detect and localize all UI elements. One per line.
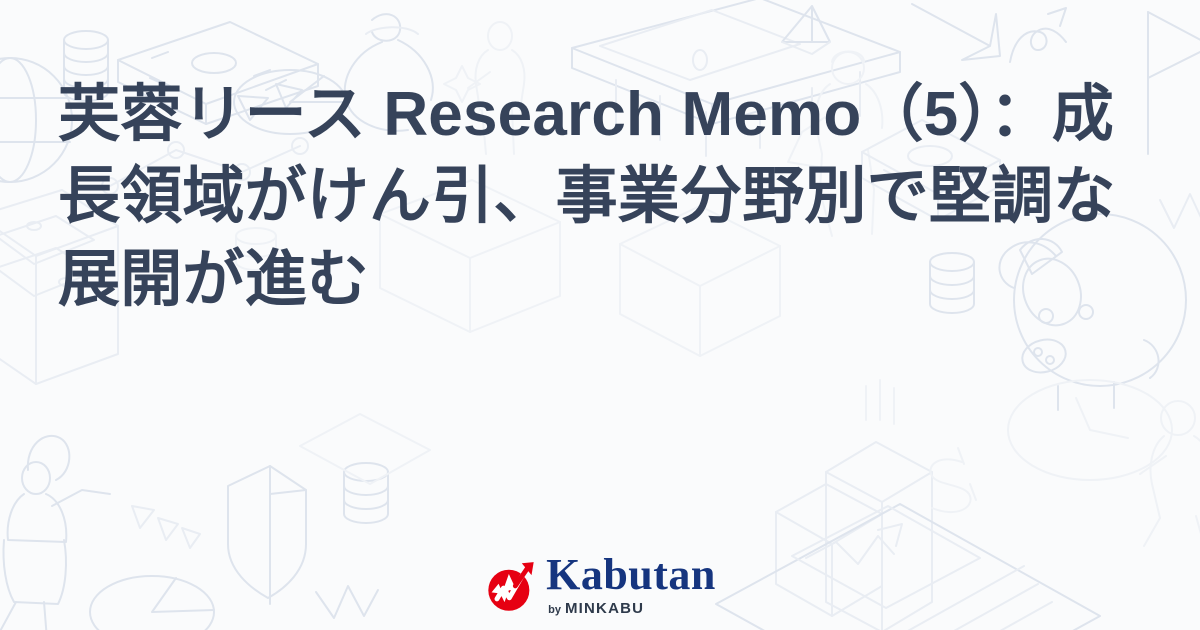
triangle-icon [782,6,830,54]
page-title: 芙蓉リース Research Memo（5）：成長領域がけん引、事業分野別で堅調… [58,74,1154,321]
triangle-icon [132,506,200,548]
clock-icon [1008,380,1172,480]
down-arrow-icon [912,4,1000,60]
logo-wordmark: Kabutan [546,553,716,598]
ogp-card: 芙蓉リース Research Memo（5）：成長領域がけん引、事業分野別で堅調… [0,0,1200,630]
logo-subline: by MINKABU [548,601,644,616]
dollar-sign-icon [930,448,976,512]
up-arrow-icon [1010,8,1066,62]
flag-icon [1148,12,1200,154]
logo-sub-brand: MINKABU [565,601,644,616]
banknote-stack-icon [300,414,430,484]
zigzag-line-icon [1160,194,1200,228]
logo-text-block: Kabutan by MINKABU [546,553,716,616]
kabutan-chart-arrow-mark [484,560,538,614]
coin-stack-icon [344,463,388,523]
logo-sub-by: by [548,605,561,616]
kabutan-logo[interactable]: Kabutan by MINKABU [0,553,1200,616]
title-block: 芙蓉リース Research Memo（5）：成長領域がけん引、事業分野別で堅調… [58,74,1154,321]
